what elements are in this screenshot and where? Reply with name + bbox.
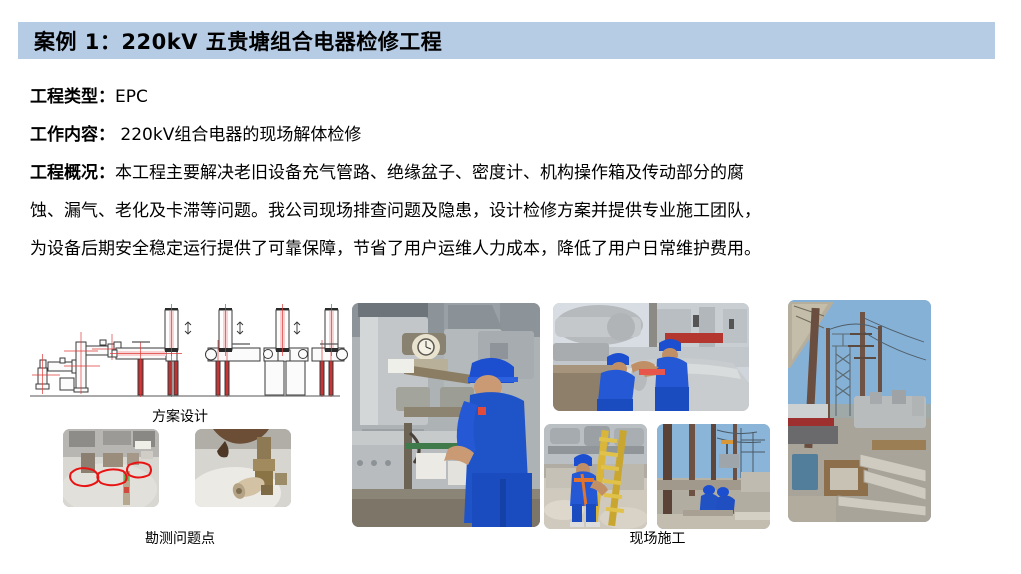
media-area: 方案设计 [0, 296, 1021, 574]
caption-survey: 勘测问题点 [95, 528, 265, 548]
work-content-label: 工作内容： [30, 125, 115, 145]
worker-inspecting-gis-equipment-photo [352, 303, 540, 527]
overview-paragraph: 工程概况：本工程主要解决老旧设备充气管路、绝缘盆子、密度计、机构操作箱及传动部分… [30, 154, 995, 268]
overview-line-1: 工程概况：本工程主要解决老旧设备充气管路、绝缘盆子、密度计、机构操作箱及传动部分… [30, 154, 995, 192]
project-type-value: EPC [115, 87, 148, 107]
two-workers-on-pipe-photo [553, 303, 749, 411]
work-content-value: 220kV组合电器的现场解体检修 [115, 125, 361, 145]
overview-line-2: 蚀、漏气、老化及卡滞等问题。我公司现场排查问题及隐患，设计检修方案并提供专业施工… [30, 192, 995, 230]
rusted-valve-closeup-photo [195, 429, 291, 507]
substation-towers-and-crane-photo [788, 300, 931, 522]
work-content-line: 工作内容： 220kV组合电器的现场解体检修 [30, 116, 995, 154]
overview-line-3: 为设备后期安全稳定运行提供了可靠保障，节省了用户运维人力成本，降低了用户日常维护… [30, 230, 995, 268]
overview-text-1: 本工程主要解决老旧设备充气管路、绝缘盆子、密度计、机构操作箱及传动部分的腐 [115, 163, 744, 183]
project-type-line: 工程类型：EPC [30, 78, 995, 116]
slide-title-bar: 案例 1：220kV 五贵塘组合电器检修工程 [18, 22, 995, 59]
overview-label: 工程概况： [30, 163, 115, 183]
caption-site: 现场施工 [570, 528, 745, 548]
crane-lifting-at-substation-photo [657, 424, 770, 529]
project-type-label: 工程类型： [30, 87, 115, 107]
caption-design: 方案设计 [100, 406, 260, 426]
gis-assembly-sequence-drawing [20, 302, 350, 408]
body-text-block: 工程类型：EPC 工作内容： 220kV组合电器的现场解体检修 工程概况：本工程… [30, 78, 995, 268]
slide: 案例 1：220kV 五贵塘组合电器检修工程 工程类型：EPC 工作内容： 22… [0, 0, 1021, 574]
corrosion-marked-red-circles-photo [63, 429, 159, 507]
worker-carrying-ladder-photo [544, 424, 647, 529]
page-title: 案例 1：220kV 五贵塘组合电器检修工程 [18, 26, 442, 56]
